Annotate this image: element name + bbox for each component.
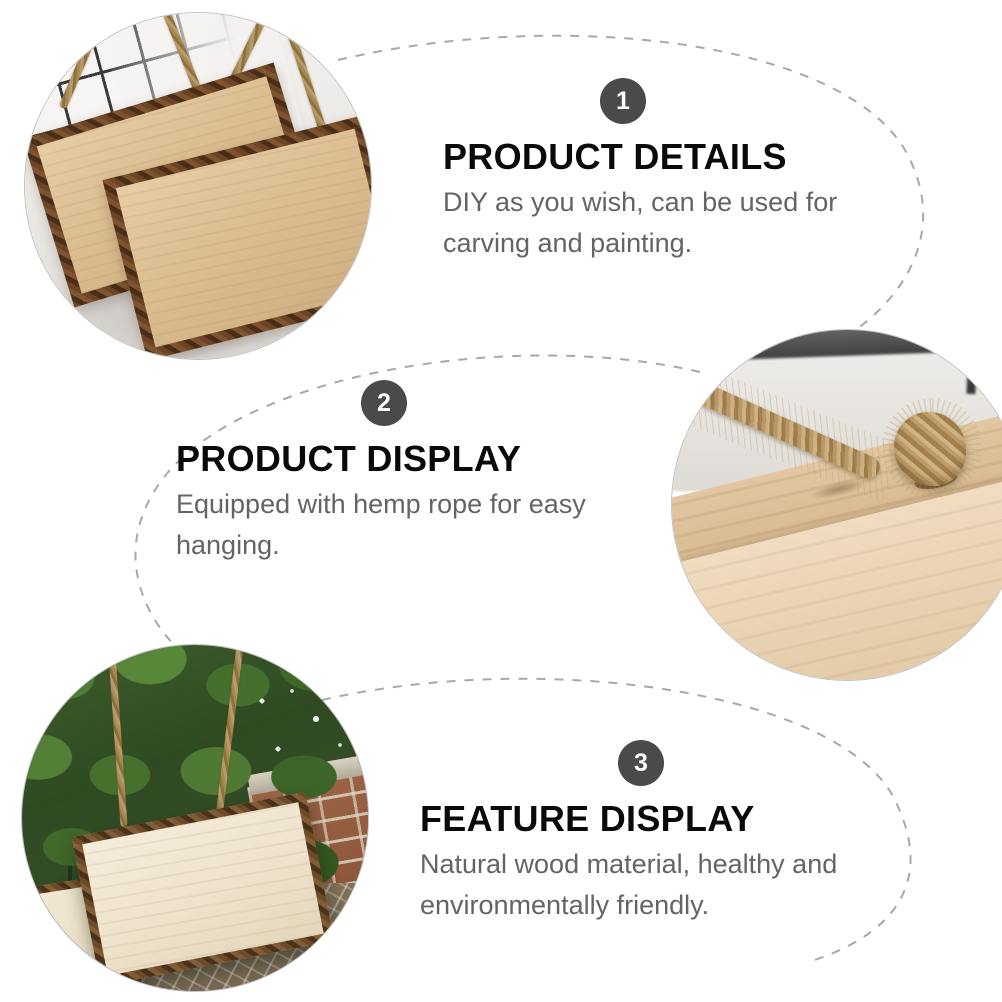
product-display-photo xyxy=(672,330,1002,680)
step-body-1: DIY as you wish, can be used for carving… xyxy=(443,182,903,264)
step-product-details: 1 PRODUCT DETAILS DIY as you wish, can b… xyxy=(443,78,903,264)
step-heading-2: PRODUCT DISPLAY xyxy=(176,438,636,480)
step-heading-1: PRODUCT DETAILS xyxy=(443,136,903,178)
step-heading-3: FEATURE DISPLAY xyxy=(420,798,880,840)
step-feature-display: 3 FEATURE DISPLAY Natural wood material,… xyxy=(420,740,880,926)
step-body-3: Natural wood material, healthy and envir… xyxy=(420,844,880,926)
step-badge-3: 3 xyxy=(618,740,664,786)
rope-knot xyxy=(894,412,966,486)
product-infographic: 1 PRODUCT DETAILS DIY as you wish, can b… xyxy=(0,0,1002,1002)
product-details-photo xyxy=(25,13,371,359)
step-product-display: 2 PRODUCT DISPLAY Equipped with hemp rop… xyxy=(176,380,636,566)
step-body-2: Equipped with hemp rope for easy hanging… xyxy=(176,484,636,566)
step-badge-2: 2 xyxy=(361,380,407,426)
feature-display-photo xyxy=(22,645,368,991)
step-badge-1: 1 xyxy=(600,78,646,124)
sunlight-sparkle xyxy=(244,679,362,775)
